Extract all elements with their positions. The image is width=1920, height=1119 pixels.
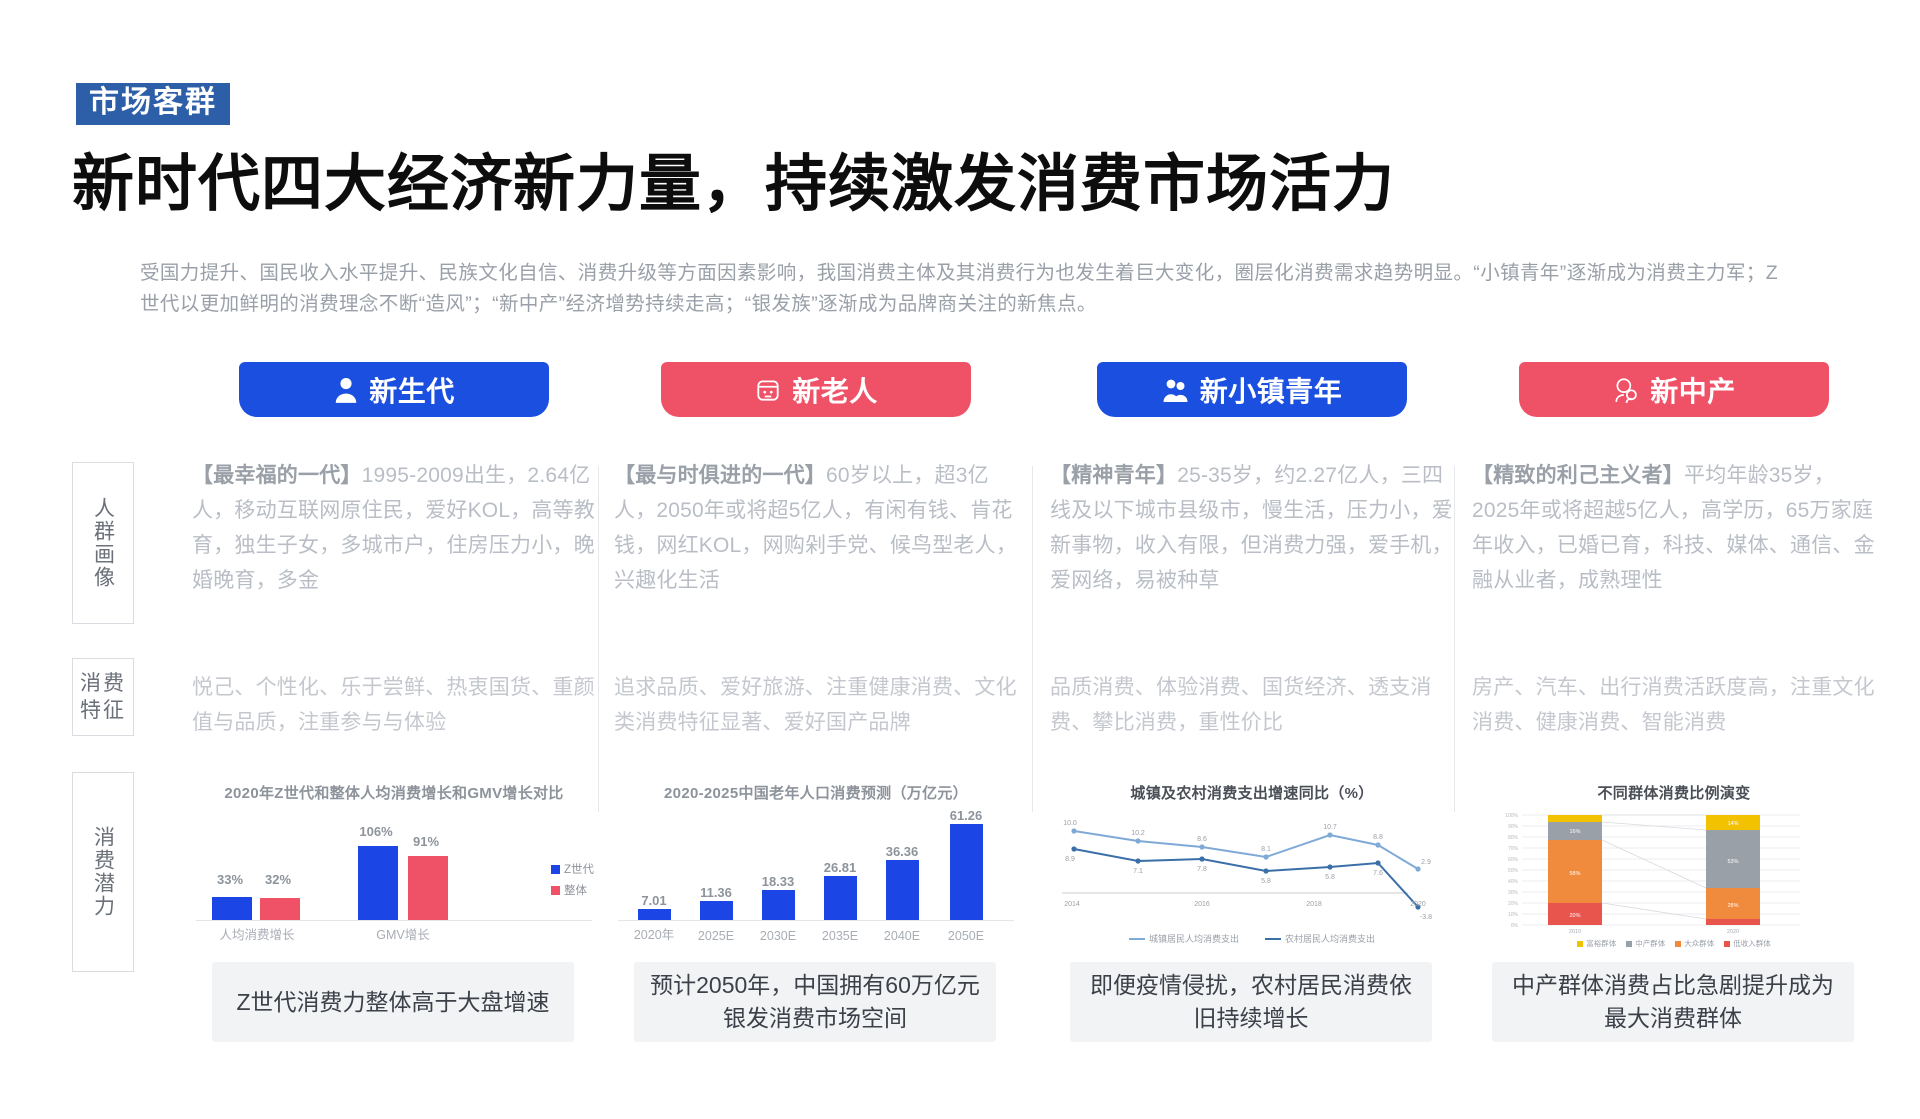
svg-text:100%: 100%: [1505, 813, 1518, 819]
svg-text:0%: 0%: [1511, 923, 1519, 929]
legend-item-rural: 农村居民人均消费支出: [1265, 932, 1375, 945]
svg-text:7.6: 7.6: [1373, 870, 1383, 877]
segment-banner-label: 新小镇青年: [1200, 370, 1343, 410]
svg-text:8.9: 8.9: [1065, 856, 1075, 863]
legend-item-zgen: Z世代: [551, 861, 594, 877]
line-chart-svg: 10.010.28.6 8.110.78.8 2.9 8.97.17.8 5.8…: [1048, 807, 1448, 925]
chart-axis-1: [196, 920, 592, 921]
segment-banner-new-middle-class[interactable]: 新中产: [1519, 362, 1829, 417]
profile-text-new-generation: 【最幸福的一代】1995-2009出生，2.64亿人，移动互联网原住民，爱好KO…: [192, 458, 596, 598]
conclusion-box-3: 即便疫情侵扰，农村居民消费依旧持续增长: [1070, 962, 1432, 1042]
bar-overall-2: [408, 856, 448, 920]
legend-label: 城镇居民人均消费支出: [1149, 932, 1239, 945]
svg-text:60%: 60%: [1508, 857, 1519, 863]
legend-label: 农村居民人均消费支出: [1285, 932, 1375, 945]
svg-text:5.8: 5.8: [1261, 878, 1271, 885]
chart-title-3: 城镇及农村消费支出增速同比（%）: [1048, 782, 1456, 803]
chart-legend-4: 富裕群体 中产群体 大众群体 低收入群体: [1470, 938, 1878, 949]
svg-text:28%: 28%: [1727, 903, 1738, 909]
chart-card-1: 2020年Z世代和整体人均消费增长和GMV增长对比 33% 32% 人均消费增长…: [190, 782, 598, 957]
family-icon: [1612, 376, 1640, 404]
bar-category: 2025E: [684, 929, 748, 943]
bar-2030: [762, 890, 795, 920]
bar-value: 11.36: [690, 885, 742, 900]
svg-text:40%: 40%: [1508, 879, 1519, 885]
stack-rich-2010: [1548, 815, 1602, 822]
svg-text:8.1: 8.1: [1261, 846, 1271, 853]
chart-plot-1: 33% 32% 人均消费增长 106% 91% GMV增长 Z世代 整体: [190, 807, 598, 947]
segment-column-new-middle-class: 新中产 【精致的利己主义者】平均年龄35岁，2025年或将超越5亿人，高学历，6…: [1462, 362, 1886, 417]
person-icon: [333, 376, 359, 404]
legend-swatch-mass: [1675, 941, 1681, 947]
svg-text:16%: 16%: [1569, 829, 1580, 835]
segment-column-new-elderly: 新老人 【最与时俱进的一代】60岁以上，超3亿人，2050年或将超5亿人，有闲有…: [604, 362, 1028, 417]
chart-card-3: 城镇及农村消费支出增速同比（%）: [1048, 782, 1456, 957]
bar-category: 2050E: [934, 929, 998, 943]
legend-label: 富裕群体: [1586, 938, 1616, 949]
chart-title-4: 不同群体消费比例演变: [1470, 782, 1878, 803]
bar-value: 36.36: [876, 844, 928, 859]
legend-item-low: 低收入群体: [1724, 938, 1771, 949]
bar-value: 7.01: [628, 893, 680, 908]
svg-text:2014: 2014: [1064, 901, 1080, 908]
svg-text:58%: 58%: [1569, 871, 1580, 877]
bar-value: 33%: [204, 872, 256, 887]
bar-category: 2040E: [870, 929, 934, 943]
legend-label: 中产群体: [1635, 938, 1665, 949]
segments-grid: 新生代 【最幸福的一代】1995-2009出生，2.64亿人，移动互联网原住民，…: [0, 362, 1920, 1092]
chart-legend-3: 城镇居民人均消费支出 农村居民人均消费支出: [1048, 932, 1456, 945]
bar-zgen-2: [358, 846, 398, 920]
segment-banner-label: 新老人: [792, 370, 878, 410]
page-title: 新时代四大经济新力量，持续激发消费市场活力: [72, 133, 1395, 223]
svg-text:30%: 30%: [1508, 890, 1519, 896]
segment-column-new-town-youth: 新小镇青年 【精神青年】25-35岁，约2.27亿人，三四线及以下城市县级市，慢…: [1040, 362, 1464, 417]
legend-item-mass: 大众群体: [1675, 938, 1714, 949]
svg-text:50%: 50%: [1508, 868, 1519, 874]
svg-text:20%: 20%: [1508, 901, 1519, 907]
traits-text-new-town-youth: 品质消费、体验消费、国货经济、透支消费、攀比消费，重性价比: [1050, 670, 1454, 740]
legend-swatch-red: [551, 886, 560, 895]
svg-text:90%: 90%: [1508, 824, 1519, 830]
intro-paragraph: 受国力提升、国民收入水平提升、民族文化自信、消费升级等方面因素影响，我国消费主体…: [140, 258, 1780, 320]
bar-value: 61.26: [938, 808, 994, 823]
svg-text:7.8: 7.8: [1197, 866, 1207, 873]
legend-label: 低收入群体: [1733, 938, 1771, 949]
chart-plot-2: 7.01 2020年 11.36 2025E 18.33 2030E 26.81…: [612, 807, 1020, 947]
bar-2025: [700, 901, 733, 920]
svg-text:8.6: 8.6: [1197, 836, 1207, 843]
svg-text:53%: 53%: [1727, 859, 1738, 865]
bar-2040: [886, 860, 919, 920]
conclusion-box-1: Z世代消费力整体高于大盘增速: [212, 962, 574, 1042]
conclusion-box-4: 中产群体消费占比急剧提升成为最大消费群体: [1492, 962, 1854, 1042]
traits-text-new-elderly: 追求品质、爱好旅游、注重健康消费、文化类消费特征显著、爱好国产品牌: [614, 670, 1018, 740]
segment-banner-label: 新生代: [369, 370, 455, 410]
chart-plot-4: 100%90%80% 70%60%50% 40%30%20% 10%0%: [1470, 807, 1878, 937]
legend-swatch-rich: [1577, 941, 1583, 947]
legend-label: 大众群体: [1684, 938, 1714, 949]
bar-value: 18.33: [752, 874, 804, 889]
profile-tag: 【最幸福的一代】: [192, 464, 362, 487]
segment-banner-new-town-youth[interactable]: 新小镇青年: [1097, 362, 1407, 417]
segment-column-new-generation: 新生代 【最幸福的一代】1995-2009出生，2.64亿人，移动互联网原住民，…: [182, 362, 606, 417]
legend-swatch-middle: [1626, 941, 1632, 947]
bar-category: 2030E: [746, 929, 810, 943]
chart-card-4: 不同群体消费比例演变 100%90%80% 7: [1470, 782, 1878, 957]
two-people-icon: [1162, 376, 1190, 404]
bar-zgen-1: [212, 897, 252, 920]
bar-category: 2035E: [808, 929, 872, 943]
svg-text:70%: 70%: [1508, 846, 1519, 852]
svg-text:80%: 80%: [1508, 835, 1519, 841]
column-divider-1b: [598, 662, 599, 812]
elder-face-icon: [754, 376, 782, 404]
svg-text:10.0: 10.0: [1063, 820, 1077, 827]
legend-label: Z世代: [564, 861, 594, 877]
legend-item-rich: 富裕群体: [1577, 938, 1616, 949]
chart-title-1: 2020年Z世代和整体人均消费增长和GMV增长对比: [190, 782, 598, 803]
stack-low-2020: [1706, 919, 1760, 925]
svg-text:14%: 14%: [1727, 821, 1738, 827]
legend-label: 整体: [564, 882, 587, 898]
svg-text:2020: 2020: [1727, 929, 1739, 935]
traits-text-new-generation: 悦己、个性化、乐于尝鲜、热衷国货、重颜值与品质，注重参与与体验: [192, 670, 596, 740]
svg-text:2018: 2018: [1306, 901, 1322, 908]
bar-value: 26.81: [814, 860, 866, 875]
profile-text-new-town-youth: 【精神青年】25-35岁，约2.27亿人，三四线及以下城市县级市，慢生活，压力小…: [1050, 458, 1454, 598]
stacked-bar-svg: 100%90%80% 70%60%50% 40%30%20% 10%0%: [1470, 807, 1870, 935]
profile-tag: 【精致的利己主义者】: [1472, 464, 1684, 487]
bar-value: 32%: [252, 872, 304, 887]
column-divider-2b: [1032, 662, 1033, 812]
bar-value: 91%: [400, 834, 452, 849]
profile-text-new-elderly: 【最与时俱进的一代】60岁以上，超3亿人，2050年或将超5亿人，有闲有钱、肯花…: [614, 458, 1018, 598]
profile-tag: 【精神青年】: [1050, 464, 1177, 487]
svg-text:-3.8: -3.8: [1420, 914, 1432, 921]
conclusion-box-2: 预计2050年，中国拥有60万亿元银发消费市场空间: [634, 962, 996, 1042]
legend-item-middle: 中产群体: [1626, 938, 1665, 949]
bar-value: 106%: [348, 824, 404, 839]
chart-axis-2: [618, 920, 1014, 921]
svg-text:2016: 2016: [1194, 901, 1210, 908]
profile-tag: 【最与时俱进的一代】: [614, 464, 826, 487]
segment-banner-new-elderly[interactable]: 新老人: [661, 362, 971, 417]
legend-swatch-urban: [1129, 938, 1145, 940]
svg-text:5.8: 5.8: [1325, 874, 1335, 881]
svg-text:2020: 2020: [1410, 901, 1426, 908]
section-badge: 市场客群: [76, 83, 230, 125]
svg-text:7.1: 7.1: [1133, 868, 1143, 875]
bar-category: GMV增长: [342, 924, 464, 943]
bar-2020: [638, 909, 671, 920]
legend-item-urban: 城镇居民人均消费支出: [1129, 932, 1239, 945]
slide-root: 市场客群 新时代四大经济新力量，持续激发消费市场活力 受国力提升、国民收入水平提…: [0, 0, 1920, 1119]
svg-text:10%: 10%: [1508, 912, 1519, 918]
chart-legend-1: Z世代 整体: [551, 861, 594, 903]
svg-text:20%: 20%: [1569, 913, 1580, 919]
chart-card-2: 2020-2025中国老年人口消费预测（万亿元） 7.01 2020年 11.3…: [612, 782, 1020, 957]
svg-text:2.9: 2.9: [1421, 859, 1431, 866]
bar-2050: [950, 824, 983, 920]
svg-text:10.2: 10.2: [1131, 830, 1145, 837]
chart-plot-3: 10.010.28.6 8.110.78.8 2.9 8.97.17.8 5.8…: [1048, 807, 1456, 925]
legend-swatch-rural: [1265, 938, 1281, 940]
legend-swatch-blue: [551, 865, 560, 874]
profile-text-new-middle-class: 【精致的利己主义者】平均年龄35岁，2025年或将超越5亿人，高学历，65万家庭…: [1472, 458, 1876, 598]
traits-text-new-middle-class: 房产、汽车、出行消费活跃度高，注重文化消费、健康消费、智能消费: [1472, 670, 1876, 740]
bar-overall-1: [260, 898, 300, 920]
bar-category: 人均消费增长: [196, 924, 318, 943]
svg-text:2010: 2010: [1569, 929, 1581, 935]
chart-title-2: 2020-2025中国老年人口消费预测（万亿元）: [612, 782, 1020, 803]
segment-banner-new-generation[interactable]: 新生代: [239, 362, 549, 417]
svg-text:10.7: 10.7: [1323, 824, 1337, 831]
legend-item-overall: 整体: [551, 882, 594, 898]
bar-2035: [824, 876, 857, 920]
legend-swatch-low: [1724, 941, 1730, 947]
bar-category: 2020年: [622, 924, 686, 943]
segment-banner-label: 新中产: [1650, 370, 1736, 410]
svg-text:8.8: 8.8: [1373, 834, 1383, 841]
